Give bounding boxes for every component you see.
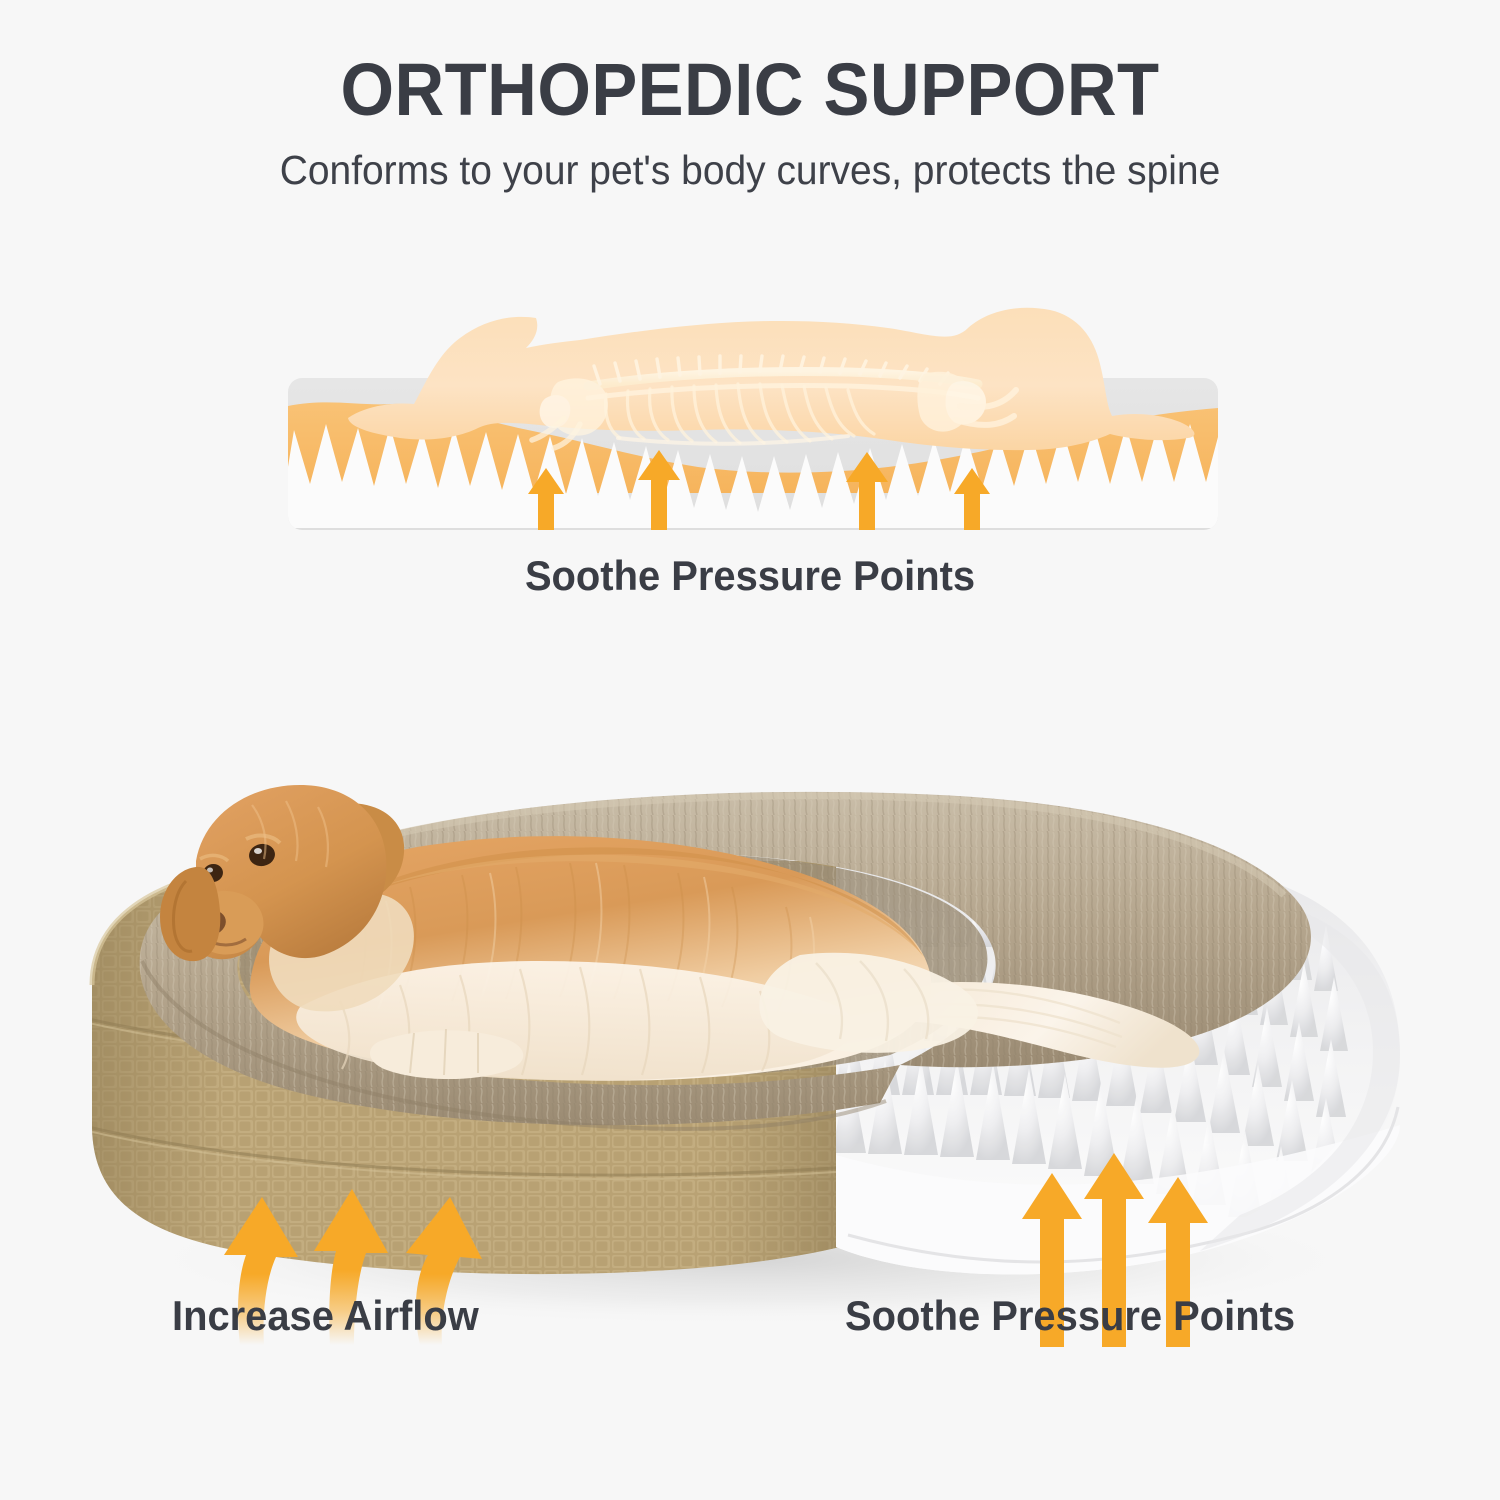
caption-increase-airflow: Increase Airflow [172, 1292, 479, 1340]
page-title: ORTHOPEDIC SUPPORT [53, 52, 1448, 127]
header-block: ORTHOPEDIC SUPPORT Conforms to your pet'… [0, 52, 1500, 194]
pet-silhouette [348, 308, 1194, 450]
foam-cross-section-diagram [288, 278, 1218, 530]
product-feature-image: ORTHOPEDIC SUPPORT Conforms to your pet'… [0, 0, 1500, 1500]
diagram-caption: Soothe Pressure Points [38, 552, 1463, 600]
caption-soothe-pressure-points: Soothe Pressure Points [845, 1292, 1295, 1340]
product-photo [0, 655, 1500, 1355]
page-subtitle: Conforms to your pet's body curves, prot… [38, 147, 1463, 194]
